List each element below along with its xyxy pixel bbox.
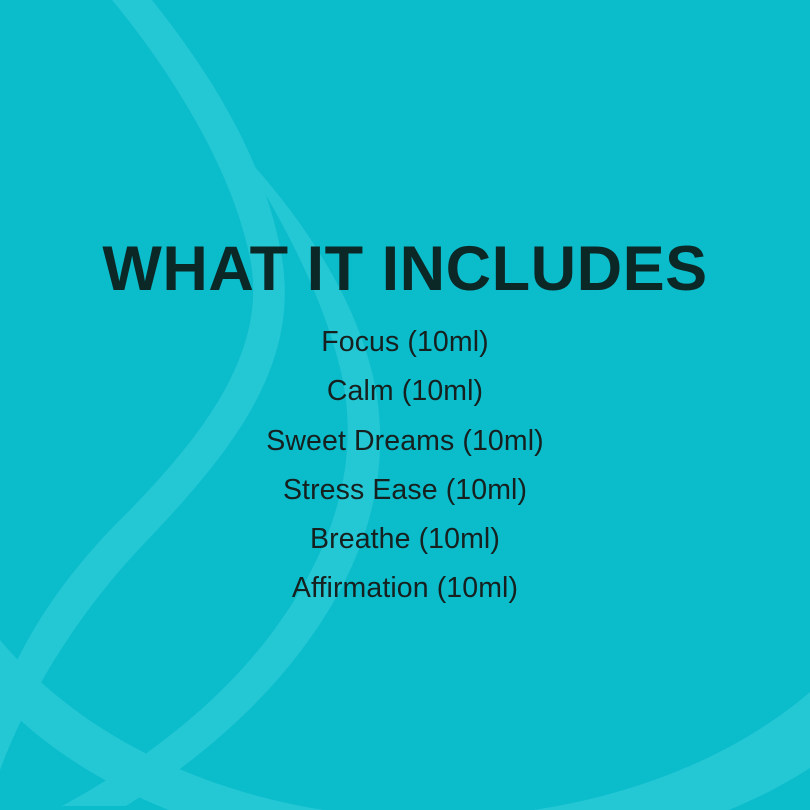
list-item: Affirmation (10ml) xyxy=(0,564,810,613)
page-title: WHAT IT INCLUDES xyxy=(0,238,810,301)
poster-canvas: WHAT IT INCLUDES Focus (10ml) Calm (10ml… xyxy=(0,0,810,810)
poster-content: WHAT IT INCLUDES Focus (10ml) Calm (10ml… xyxy=(0,0,810,810)
list-item: Sweet Dreams (10ml) xyxy=(0,417,810,466)
list-item: Stress Ease (10ml) xyxy=(0,466,810,515)
includes-list: Focus (10ml) Calm (10ml) Sweet Dreams (1… xyxy=(0,318,810,614)
list-item: Calm (10ml) xyxy=(0,367,810,416)
list-item: Focus (10ml) xyxy=(0,318,810,367)
list-item: Breathe (10ml) xyxy=(0,515,810,564)
